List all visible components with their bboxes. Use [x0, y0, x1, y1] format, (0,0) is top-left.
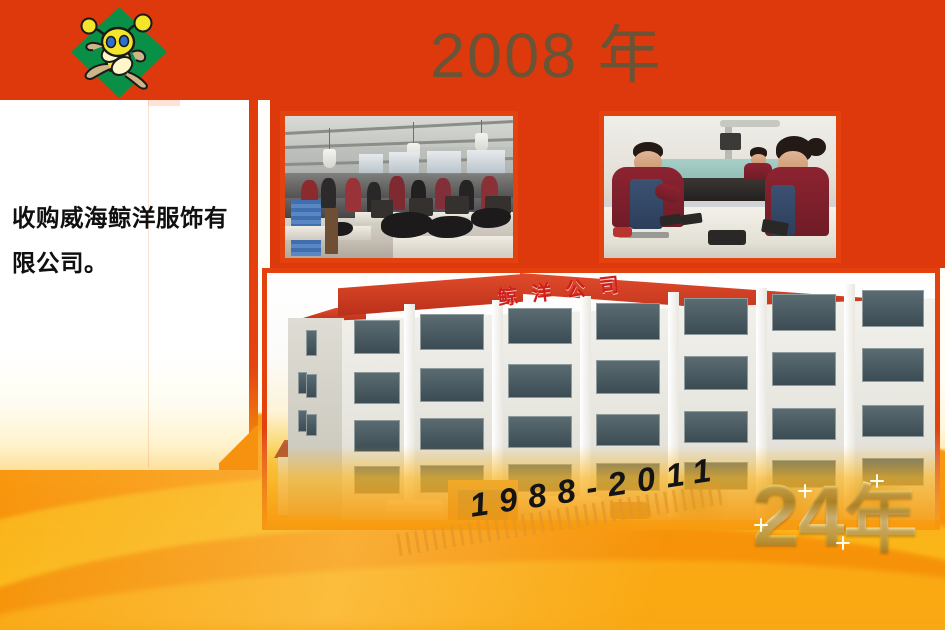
- photo-factory-sewing-floor: [280, 111, 518, 263]
- building-photo-border-right: [935, 268, 940, 530]
- anniversary-badge: 24年: [752, 466, 932, 566]
- anniversary-number: 24: [752, 466, 844, 566]
- photo-workers-cutting-table: [599, 111, 841, 263]
- slide-canvas: 2008 年 收购威海鲸洋服饰有限公司。: [0, 0, 945, 630]
- anniversary-unit: 年: [844, 470, 918, 570]
- text-card-hairline-top: [148, 100, 180, 106]
- text-card-corner-cut: [219, 425, 258, 470]
- bee-logo-icon: [68, 4, 170, 101]
- text-card-accent-edge: [249, 100, 258, 470]
- text-card-body: 收购威海鲸洋服饰有限公司。: [12, 196, 250, 286]
- building-photo-border-left: [262, 268, 267, 530]
- page-title: 2008 年: [430, 12, 770, 100]
